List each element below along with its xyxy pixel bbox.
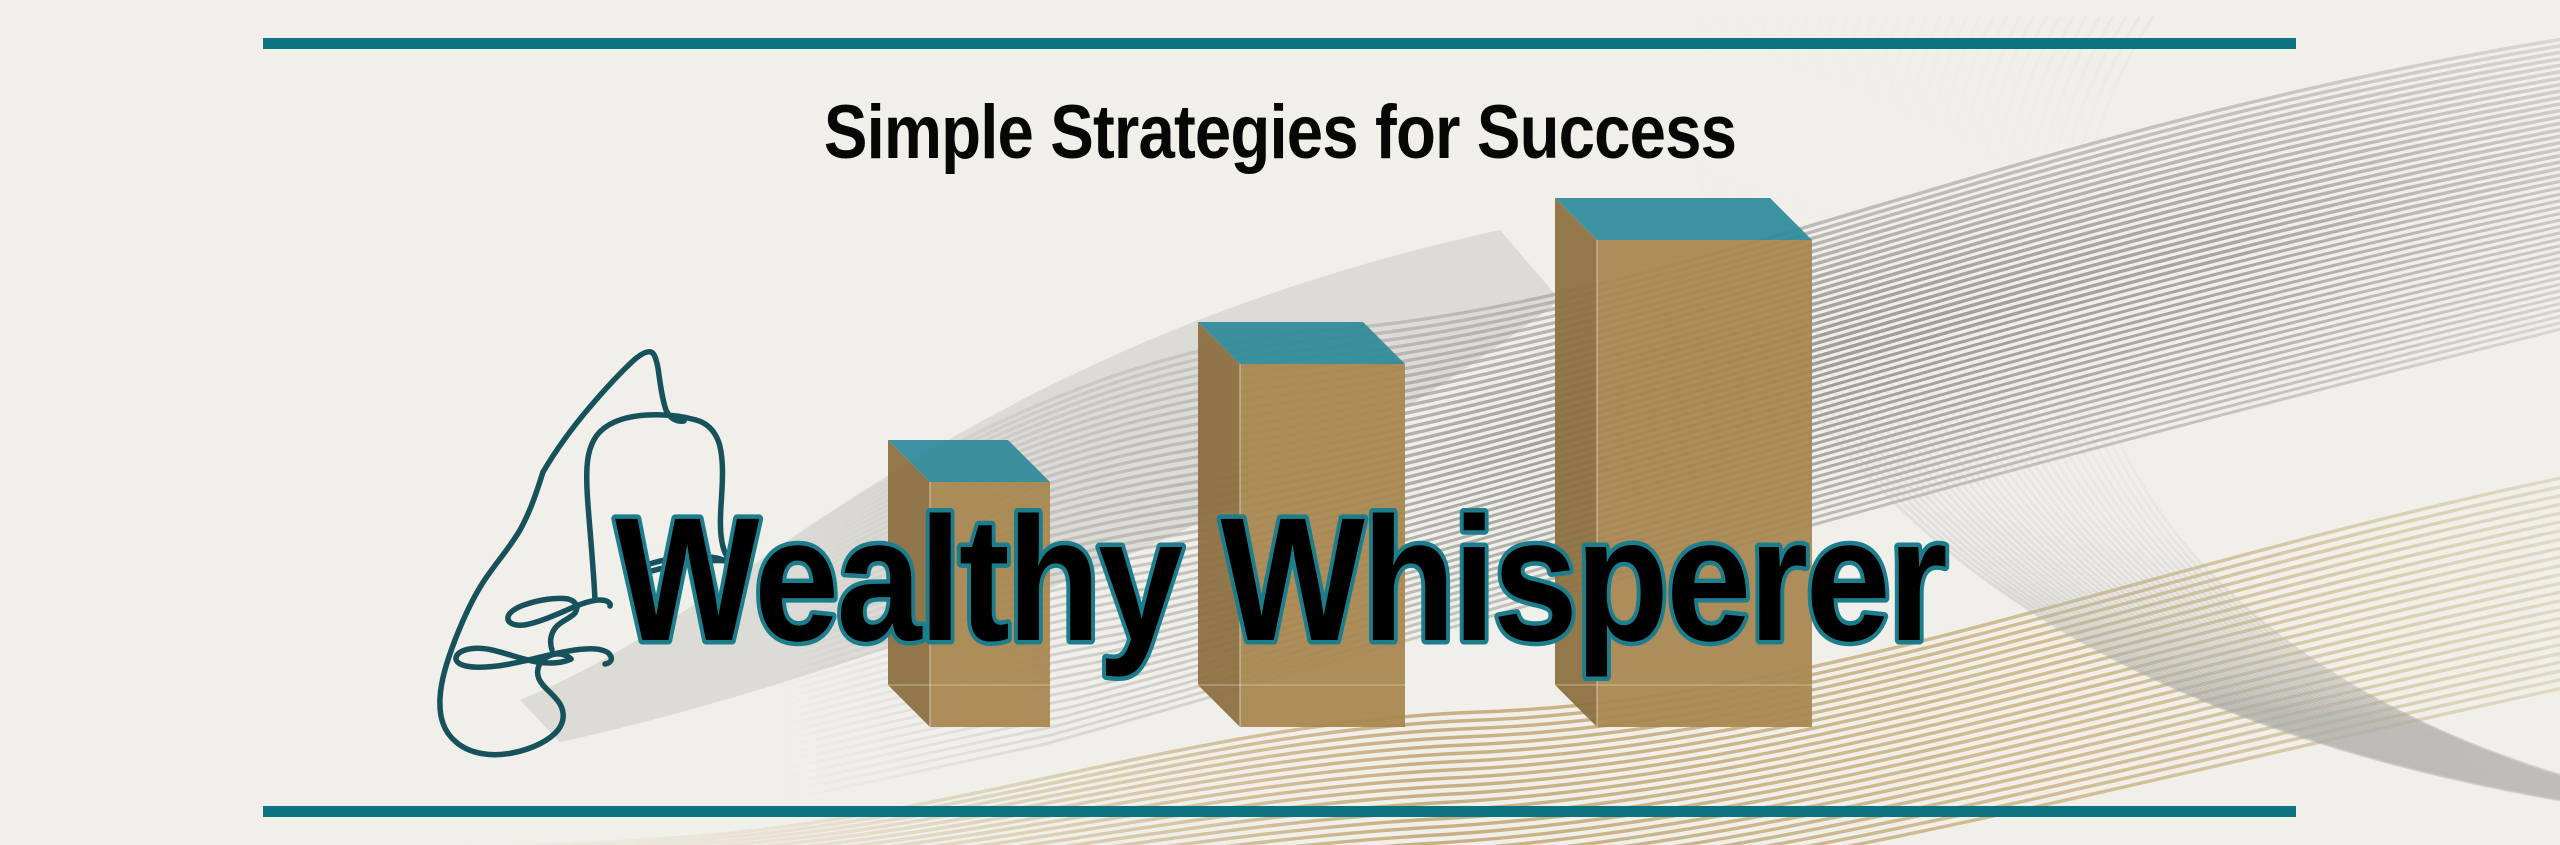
page-subtitle: Simple Strategies for Success <box>179 95 2381 171</box>
bottom-divider-rule <box>263 806 2296 817</box>
top-divider-rule <box>263 38 2296 49</box>
banner-canvas: Simple Strategies for Success Wealthy Wh… <box>0 0 2560 845</box>
